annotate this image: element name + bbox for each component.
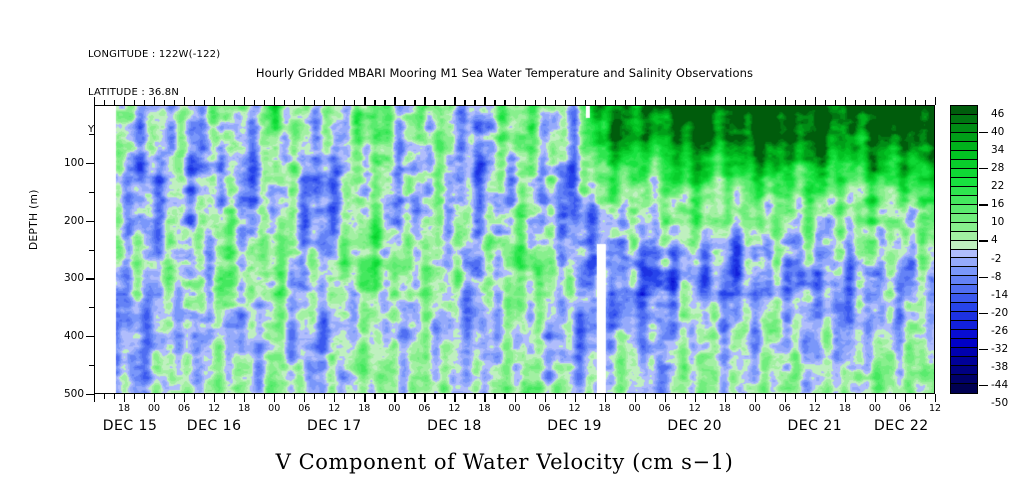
colorbar-band (951, 241, 977, 250)
colorbar-band (951, 124, 977, 133)
x-axis-hour-label: 12 (208, 403, 220, 414)
colorbar-tick (979, 132, 988, 133)
colorbar-tick-label: 46 (991, 108, 1004, 120)
x-axis-hour-label: 18 (599, 403, 611, 414)
colorbar-band (951, 330, 977, 339)
y-axis-depth-label: 300 (52, 272, 84, 284)
y-axis-major-tick (86, 394, 94, 395)
colorbar-band (951, 366, 977, 375)
colorbar-band (951, 312, 977, 321)
colorbar-tick-label: -20 (991, 307, 1008, 319)
colorbar-band (951, 258, 977, 267)
colorbar-band (951, 133, 977, 142)
y-axis-major-tick (86, 336, 94, 337)
colorbar-band (951, 187, 977, 196)
colorbar-band (951, 142, 977, 151)
colorbar-band (951, 160, 977, 169)
x-axis-hour-label: 00 (148, 403, 160, 414)
colorbar-tick-label: -8 (991, 271, 1001, 283)
colorbar-band (951, 214, 977, 223)
colorbar-band (951, 276, 977, 285)
colorbar-band (951, 321, 977, 330)
colorbar-tick (979, 277, 988, 278)
colorbar-band (951, 151, 977, 160)
colorbar-tick-label: 22 (991, 180, 1004, 192)
y-axis-major-tick (86, 163, 94, 164)
colorbar (950, 105, 978, 394)
colorbar-band (951, 178, 977, 187)
x-axis-day-label: DEC 15 (103, 418, 158, 434)
x-axis-hour-label: 12 (448, 403, 460, 414)
y-axis-minor-tick (89, 307, 94, 308)
colorbar-band (951, 348, 977, 357)
colorbar-tick-label: -38 (991, 361, 1008, 373)
y-axis-major-tick (86, 221, 94, 222)
x-axis-hour-label: 06 (418, 403, 430, 414)
colorbar-tick-label: 10 (991, 216, 1004, 228)
colorbar-band (951, 205, 977, 214)
x-axis-hour-label: 18 (358, 403, 370, 414)
variable-title: V Component of Water Velocity (cm s−1) (0, 450, 1009, 474)
x-axis-hour-label: 06 (899, 403, 911, 414)
y-axis-minor-tick (89, 365, 94, 366)
y-axis-title: DEPTH (m) (28, 189, 40, 250)
colorbar-band (951, 223, 977, 232)
y-axis-minor-tick (89, 134, 94, 135)
x-axis-hour-label: 12 (809, 403, 821, 414)
x-axis-day-label: DEC 18 (427, 418, 482, 434)
x-axis-hour-label: 12 (328, 403, 340, 414)
colorbar-band (951, 106, 977, 115)
x-axis-hour-label: 12 (689, 403, 701, 414)
x-axis-hour-label: 00 (869, 403, 881, 414)
colorbar-tick-label: -2 (991, 253, 1001, 265)
x-axis-day-label: DEC 19 (547, 418, 602, 434)
x-axis-hour-label: 00 (268, 403, 280, 414)
colorbar-tick (979, 240, 988, 241)
colorbar-tick-label: -14 (991, 289, 1008, 301)
x-axis-hour-label: 18 (238, 403, 250, 414)
x-axis-hour-label: 06 (298, 403, 310, 414)
colorbar-band (951, 384, 977, 393)
y-axis-depth-label: 200 (52, 215, 84, 227)
x-axis-hour-label: 06 (659, 403, 671, 414)
colorbar-tick (979, 204, 988, 205)
x-axis-hour-label: 06 (779, 403, 791, 414)
colorbar-tick (979, 313, 988, 314)
colorbar-tick-label: 4 (991, 234, 998, 246)
y-axis-major-tick (86, 278, 94, 279)
colorbar-band (951, 339, 977, 348)
x-axis-hour-label: 18 (719, 403, 731, 414)
y-axis-depth-label: 500 (52, 388, 84, 400)
x-axis-hour-label: 18 (478, 403, 490, 414)
colorbar-tick-label: -44 (991, 379, 1008, 391)
colorbar-band (951, 267, 977, 276)
y-axis-minor-tick (89, 250, 94, 251)
colorbar-tick-label: -50 (991, 397, 1008, 409)
y-axis-minor-tick (89, 192, 94, 193)
x-axis-day-label: DEC 22 (874, 418, 929, 434)
colorbar-band (951, 375, 977, 384)
x-axis-hour-label: 00 (629, 403, 641, 414)
colorbar-tick-label: 16 (991, 198, 1004, 210)
colorbar-tick-label: 40 (991, 126, 1004, 138)
colorbar-tick-label: -26 (991, 325, 1008, 337)
colorbar-tick (979, 349, 988, 350)
colorbar-band (951, 294, 977, 303)
colorbar-tick-label: 34 (991, 144, 1004, 156)
colorbar-band (951, 115, 977, 124)
x-axis-day-label: DEC 21 (788, 418, 843, 434)
x-axis-hour-label: 12 (569, 403, 581, 414)
colorbar-band (951, 196, 977, 205)
colorbar-tick (979, 385, 988, 386)
colorbar-band (951, 232, 977, 241)
y-axis-depth-label: 400 (52, 330, 84, 342)
x-axis-hour-label: 00 (508, 403, 520, 414)
y-axis-depth-label: 100 (52, 157, 84, 169)
x-axis-day-label: DEC 16 (187, 418, 242, 434)
colorbar-band (951, 357, 977, 366)
colorbar-band (951, 250, 977, 259)
colorbar-tick-label: 28 (991, 162, 1004, 174)
x-axis-hour-label: 00 (749, 403, 761, 414)
x-axis-day-label: DEC 20 (667, 418, 722, 434)
x-axis-hour-label: 00 (388, 403, 400, 414)
colorbar-band (951, 169, 977, 178)
x-axis-hour-label: 18 (118, 403, 130, 414)
colorbar-band (951, 303, 977, 312)
colorbar-band (951, 285, 977, 294)
colorbar-tick-label: -32 (991, 343, 1008, 355)
colorbar-tick (979, 168, 988, 169)
x-axis-hour-label: 06 (178, 403, 190, 414)
x-axis-hour-label: 18 (839, 403, 851, 414)
x-axis-hour-label: 12 (929, 403, 941, 414)
x-axis-hour-label: 06 (538, 403, 550, 414)
x-axis-day-label: DEC 17 (307, 418, 362, 434)
